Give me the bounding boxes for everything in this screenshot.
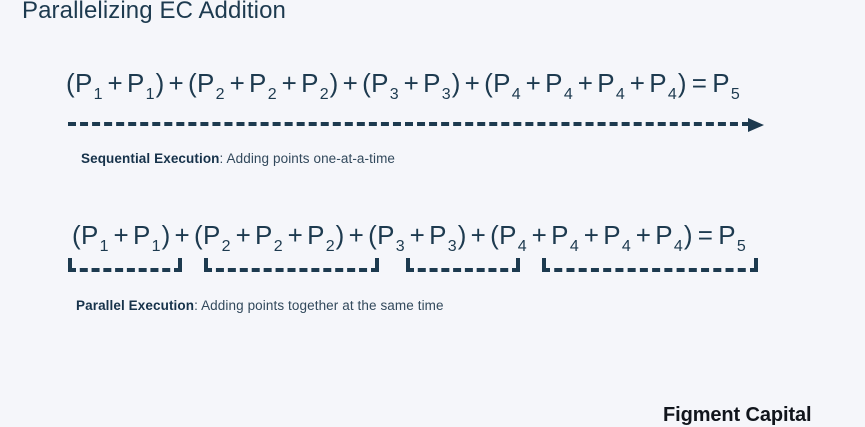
- plus-operator: +: [406, 220, 429, 250]
- bracket-group-3: [406, 258, 520, 272]
- eq-result: P5: [718, 220, 747, 250]
- plus-operator: +: [278, 68, 301, 98]
- term-subscript: 3: [389, 86, 400, 103]
- open-paren: (: [194, 220, 203, 250]
- close-paren: ): [678, 68, 687, 98]
- eq-group-2: (P2+P2+P2): [194, 220, 345, 250]
- eq-group-3: (P3+P3): [368, 220, 467, 250]
- term-subscript: 4: [621, 238, 632, 255]
- arrow-head-icon: [748, 118, 764, 132]
- term-subscript: 2: [325, 238, 336, 255]
- bracket-group-4: [542, 258, 758, 272]
- open-paren: (: [72, 220, 81, 250]
- close-paren: ): [330, 68, 339, 98]
- term-subscript: 2: [267, 86, 278, 103]
- term-subscript: 3: [447, 238, 458, 255]
- plus-operator: +: [110, 220, 133, 250]
- term-subscript: 5: [730, 86, 741, 103]
- sequential-caption-separator: :: [220, 151, 227, 166]
- term-subscript: 1: [99, 238, 110, 255]
- eq-group-1: (P1+P1): [66, 68, 165, 98]
- plus-operator: +: [171, 220, 194, 250]
- plus-operator: +: [284, 220, 307, 250]
- parallel-caption: Parallel Execution: Adding points togeth…: [76, 298, 444, 313]
- parallel-equation-block: (P1+P1)+(P2+P2+P2)+(P3+P3)+(P4+P4+P4+P4)…: [72, 218, 747, 252]
- term-p: P: [718, 220, 736, 250]
- plus-operator: +: [574, 68, 597, 98]
- open-paren: (: [362, 68, 371, 98]
- term-p: P: [255, 220, 273, 250]
- plus-operator: +: [632, 220, 655, 250]
- page-title: Parallelizing EC Addition: [22, 0, 286, 25]
- term-subscript: 4: [569, 238, 580, 255]
- plus-operator: +: [165, 68, 188, 98]
- term-p: P: [81, 220, 99, 250]
- term-subscript: 2: [319, 86, 330, 103]
- plus-operator: +: [528, 220, 551, 250]
- open-paren: (: [66, 68, 75, 98]
- term-subscript: 4: [667, 86, 678, 103]
- close-paren: ): [684, 220, 693, 250]
- parallel-caption-label: Parallel Execution: [76, 298, 194, 313]
- term-subscript: 3: [441, 86, 452, 103]
- term-p: P: [377, 220, 395, 250]
- term-p: P: [203, 220, 221, 250]
- bracket-group-2: [204, 258, 379, 272]
- term-subscript: 1: [151, 238, 162, 255]
- term-subscript: 4: [517, 238, 528, 255]
- plus-operator: +: [232, 220, 255, 250]
- plus-operator: +: [345, 220, 368, 250]
- term-p: P: [603, 220, 621, 250]
- open-paren: (: [368, 220, 377, 250]
- term-p: P: [551, 220, 569, 250]
- plus-operator: +: [580, 220, 603, 250]
- eq-result: P5: [712, 68, 741, 98]
- plus-operator: +: [522, 68, 545, 98]
- eq-group-2: (P2+P2+P2): [188, 68, 339, 98]
- close-paren: ): [452, 68, 461, 98]
- plus-operator: +: [626, 68, 649, 98]
- plus-operator: +: [400, 68, 423, 98]
- term-p: P: [649, 68, 667, 98]
- bracket-group-1: [68, 258, 182, 272]
- term-p: P: [429, 220, 447, 250]
- slide-canvas: Parallelizing EC Addition (P1+P1)+(P2+P2…: [0, 0, 865, 427]
- term-p: P: [493, 68, 511, 98]
- open-paren: (: [484, 68, 493, 98]
- term-subscript: 1: [145, 86, 156, 103]
- close-paren: ): [156, 68, 165, 98]
- brand-wordmark: Figment Capital: [663, 404, 812, 427]
- term-p: P: [712, 68, 730, 98]
- open-paren: (: [490, 220, 499, 250]
- eq-group-4: (P4+P4+P4+P4): [484, 68, 687, 98]
- term-subscript: 4: [511, 86, 522, 103]
- term-subscript: 4: [673, 238, 684, 255]
- term-p: P: [133, 220, 151, 250]
- term-p: P: [75, 68, 93, 98]
- term-subscript: 2: [273, 238, 284, 255]
- plus-operator: +: [339, 68, 362, 98]
- eq-group-4: (P4+P4+P4+P4): [490, 220, 693, 250]
- term-p: P: [301, 68, 319, 98]
- eq-group-3: (P3+P3): [362, 68, 461, 98]
- plus-operator: +: [467, 220, 490, 250]
- term-p: P: [249, 68, 267, 98]
- sequential-arrow: [68, 118, 766, 132]
- close-paren: ): [162, 220, 171, 250]
- term-subscript: 1: [93, 86, 104, 103]
- parallel-equation: (P1+P1)+(P2+P2+P2)+(P3+P3)+(P4+P4+P4+P4)…: [72, 218, 747, 252]
- term-subscript: 5: [736, 238, 747, 255]
- term-p: P: [597, 68, 615, 98]
- term-subscript: 4: [615, 86, 626, 103]
- close-paren: ): [458, 220, 467, 250]
- sequential-equation-block: (P1+P1)+(P2+P2+P2)+(P3+P3)+(P4+P4+P4+P4)…: [66, 66, 741, 100]
- dashed-line: [68, 122, 750, 126]
- plus-operator: +: [226, 68, 249, 98]
- term-p: P: [655, 220, 673, 250]
- term-p: P: [197, 68, 215, 98]
- equals-operator: =: [693, 220, 718, 250]
- eq-group-1: (P1+P1): [72, 220, 171, 250]
- term-subscript: 2: [221, 238, 232, 255]
- term-p: P: [307, 220, 325, 250]
- term-p: P: [127, 68, 145, 98]
- term-p: P: [545, 68, 563, 98]
- sequential-caption-text: Adding points one-at-a-time: [227, 151, 396, 166]
- parallel-caption-text: Adding points together at the same time: [201, 298, 444, 313]
- term-p: P: [371, 68, 389, 98]
- parallel-brackets: [0, 258, 865, 280]
- close-paren: ): [336, 220, 345, 250]
- open-paren: (: [188, 68, 197, 98]
- sequential-caption-label: Sequential Execution: [81, 151, 220, 166]
- equals-operator: =: [687, 68, 712, 98]
- sequential-caption: Sequential Execution: Adding points one-…: [81, 151, 395, 166]
- sequential-equation: (P1+P1)+(P2+P2+P2)+(P3+P3)+(P4+P4+P4+P4)…: [66, 66, 741, 100]
- term-subscript: 4: [563, 86, 574, 103]
- term-subscript: 2: [215, 86, 226, 103]
- plus-operator: +: [104, 68, 127, 98]
- term-p: P: [423, 68, 441, 98]
- term-p: P: [499, 220, 517, 250]
- plus-operator: +: [461, 68, 484, 98]
- term-subscript: 3: [395, 238, 406, 255]
